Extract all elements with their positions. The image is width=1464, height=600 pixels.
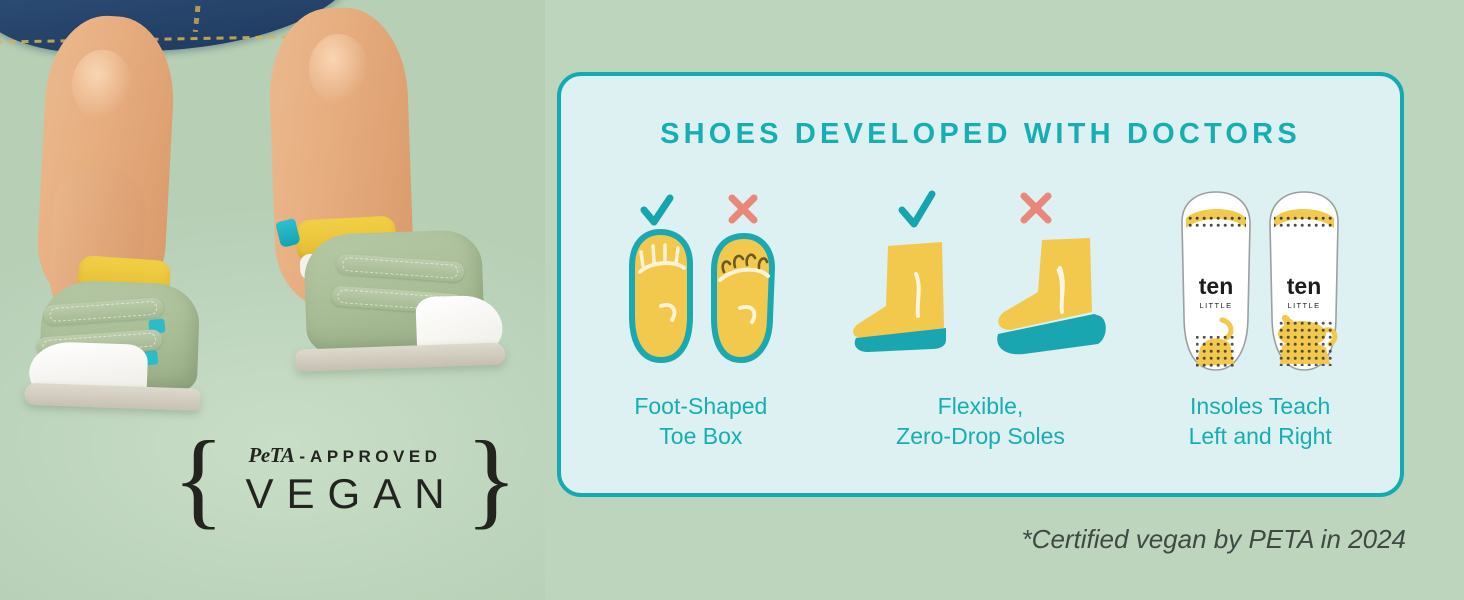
- insole-brand-main: ten: [1287, 273, 1322, 299]
- check-mark-icon: [644, 198, 670, 222]
- peta-approved-line: PeTA - APPROVED: [249, 443, 442, 468]
- peta-badge-text: PeTA - APPROVED VEGAN: [232, 443, 457, 518]
- check-mark-icon: [902, 194, 932, 224]
- caption-line-1: Flexible,: [896, 392, 1065, 422]
- feature-insoles-teach-left-and-right: ten LITTLE: [1120, 182, 1400, 451]
- left-knee-highlight: [70, 48, 134, 121]
- peta-wordmark: PeTA: [249, 443, 295, 468]
- feature-columns: Foot-Shaped Toe Box: [561, 182, 1400, 451]
- panel-title: SHOES DEVELOPED WITH DOCTORS: [561, 118, 1400, 151]
- footprints-svg: [606, 188, 796, 378]
- caption-line-2: Zero-Drop Soles: [896, 422, 1065, 452]
- boot-soles-comparison-icon: [846, 182, 1116, 378]
- raised-heel-boot: [997, 238, 1106, 354]
- zero-drop-boot: [853, 242, 946, 352]
- caption-line-1: Foot-Shaped: [634, 392, 767, 422]
- peta-approved-label: APPROVED: [310, 447, 441, 467]
- footprints-comparison-icon: [606, 182, 796, 378]
- leopard-graphic-right: [1278, 315, 1335, 366]
- caption-line-1: Insoles Teach: [1189, 392, 1332, 422]
- caption-line-2: Toe Box: [634, 422, 767, 452]
- cross-mark-icon: [1024, 196, 1048, 220]
- brace-right-icon: }: [466, 426, 518, 534]
- insole-left: ten LITTLE: [1182, 192, 1250, 370]
- insoles-left-right-icon: ten LITTLE: [1160, 182, 1360, 378]
- peta-dash: -: [299, 447, 305, 467]
- feature-flexible-zero-drop-soles: Flexible, Zero-Drop Soles: [841, 182, 1121, 451]
- sneaker-left: [28, 279, 213, 425]
- insole-brand-sub: LITTLE: [1200, 301, 1233, 310]
- sneaker-right: [287, 228, 513, 406]
- insoles-svg: ten LITTLE: [1160, 188, 1360, 378]
- healthy-footprint: [632, 232, 690, 360]
- boots-svg: [846, 188, 1116, 378]
- feature-caption: Flexible, Zero-Drop Soles: [896, 392, 1065, 451]
- feature-caption: Foot-Shaped Toe Box: [634, 392, 767, 451]
- cross-mark-icon: [732, 198, 754, 220]
- peta-vegan-label: VEGAN: [232, 470, 457, 518]
- right-knee-highlight: [308, 33, 370, 105]
- marketing-banner: { PeTA - APPROVED VEGAN } SHOES DEVELOPE…: [0, 0, 1464, 600]
- footnote-certification: *Certified vegan by PETA in 2024: [0, 524, 1406, 555]
- feature-caption: Insoles Teach Left and Right: [1189, 392, 1332, 451]
- insole-brand-main: ten: [1199, 273, 1234, 299]
- cramped-footprint: [714, 236, 772, 360]
- brace-left-icon: {: [173, 426, 225, 534]
- features-panel: SHOES DEVELOPED WITH DOCTORS: [557, 72, 1404, 497]
- insole-brand-sub: LITTLE: [1288, 301, 1321, 310]
- feature-foot-shaped-toe-box: Foot-Shaped Toe Box: [561, 182, 841, 451]
- insole-right: ten LITTLE: [1270, 192, 1338, 370]
- peta-approved-vegan-badge: { PeTA - APPROVED VEGAN }: [196, 428, 494, 532]
- caption-line-2: Left and Right: [1189, 422, 1332, 452]
